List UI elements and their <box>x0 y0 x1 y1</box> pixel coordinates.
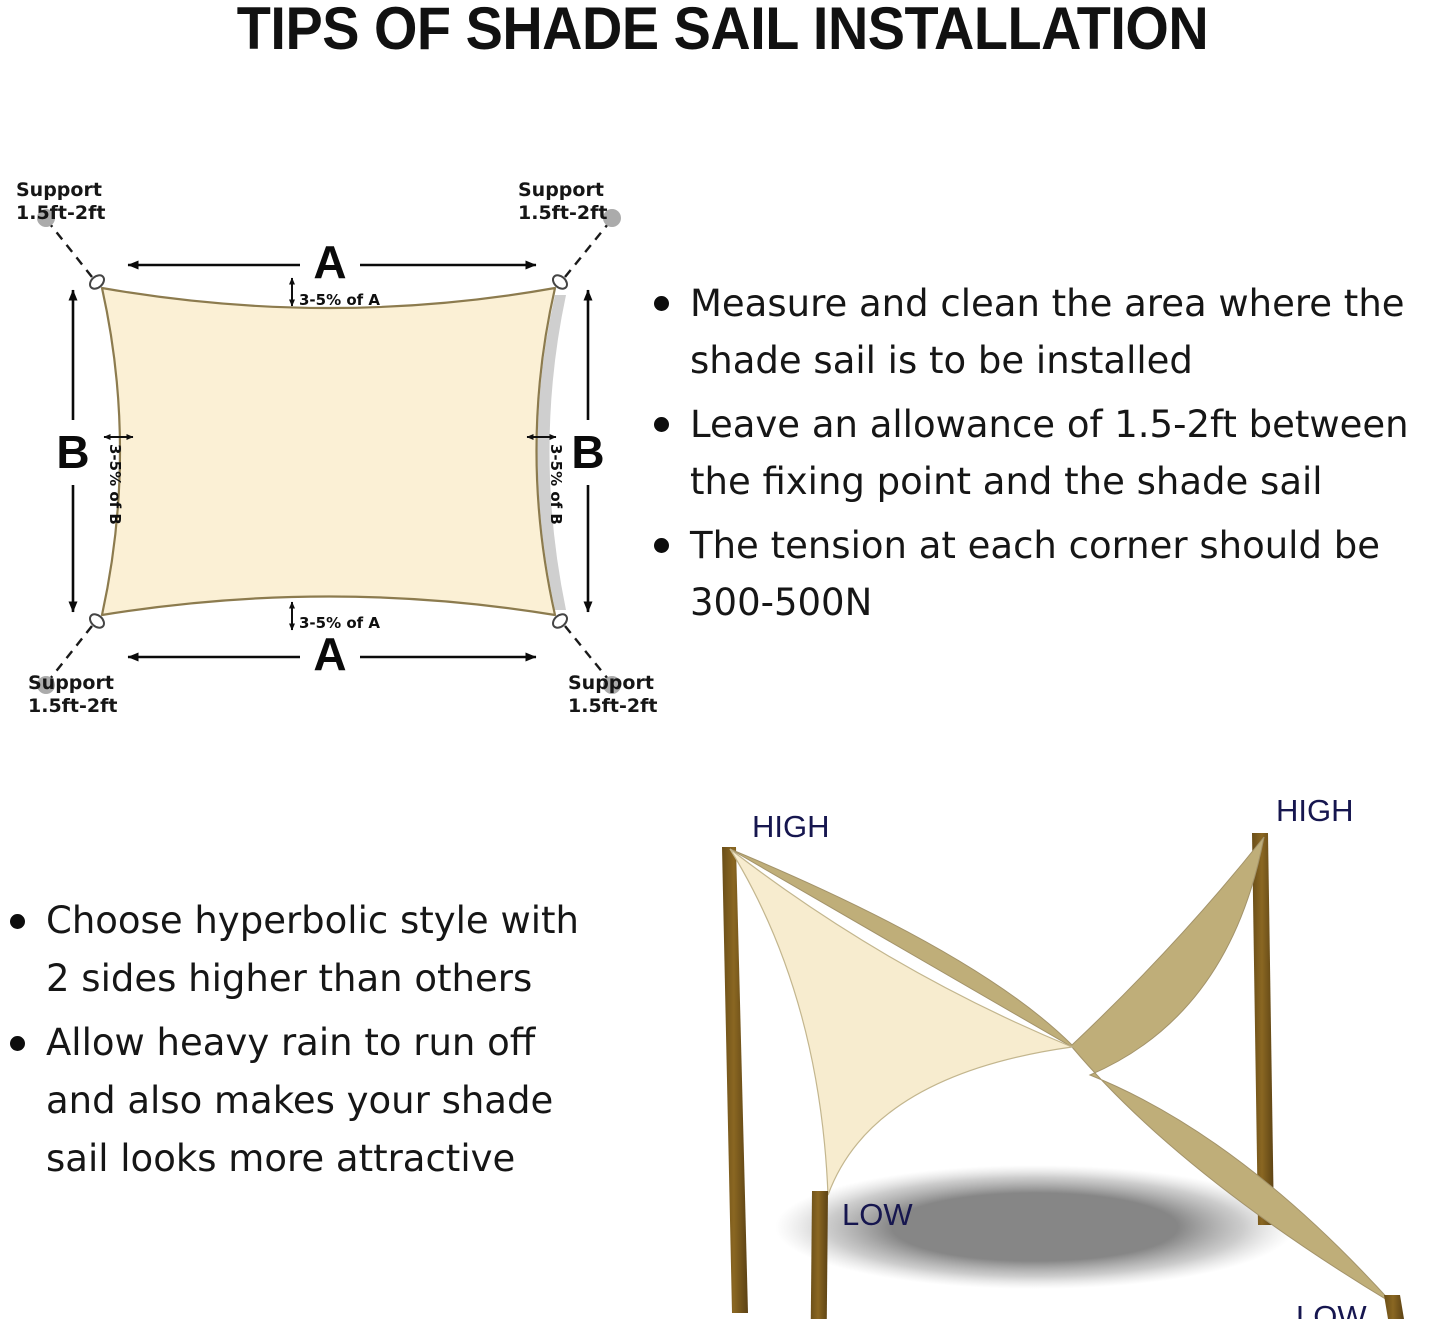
tip-line: Leave an allowance of 1.5-2ft between <box>690 403 1409 446</box>
tip-line: Allow heavy rain to run off <box>46 1021 535 1064</box>
support-label-top-right: Support 1.5ft-2ft <box>518 179 607 224</box>
support-label-line1: Support <box>518 179 604 201</box>
shade-sail-shape <box>102 288 555 615</box>
sail-panel-light <box>730 849 1072 1195</box>
tip-line: the fixing point and the shade sail <box>690 460 1323 503</box>
support-label-line2: 1.5ft-2ft <box>16 202 105 224</box>
dimension-top-width: A <box>128 236 536 288</box>
support-label-line2: 1.5ft-2ft <box>518 202 607 224</box>
tip-line: Measure and clean the area where the <box>690 282 1405 325</box>
installation-tips-list: Measure and clean the area where the sha… <box>648 275 1445 638</box>
support-label-line1: Support <box>28 672 114 694</box>
support-label-line1: Support <box>16 179 102 201</box>
support-label-line2: 1.5ft-2ft <box>568 695 657 717</box>
list-item: Leave an allowance of 1.5-2ft between th… <box>648 396 1445 510</box>
dimension-label: B <box>571 426 604 478</box>
pole-front-low-right <box>1384 1295 1404 1319</box>
list-item: Choose hyperbolic style with 2 sides hig… <box>4 892 624 1008</box>
pole-back-left <box>722 847 748 1313</box>
curvature-label: 3-5% of A <box>299 614 380 632</box>
curvature-bottom: 3-5% of A <box>292 602 380 632</box>
support-label-line1: Support <box>568 672 654 694</box>
tip-line: sail looks more attractive <box>46 1137 515 1180</box>
dimension-bottom-width: A <box>128 628 536 680</box>
dimension-label: B <box>56 426 89 478</box>
dimension-label: A <box>313 236 346 288</box>
page-title: TIPS OF SHADE SAIL INSTALLATION <box>51 0 1395 63</box>
pole-back-right <box>1252 833 1274 1225</box>
support-label-top-left: Support 1.5ft-2ft <box>16 179 105 224</box>
dimension-label: A <box>313 628 346 680</box>
list-item: Measure and clean the area where the sha… <box>648 275 1445 389</box>
list-item: Allow heavy rain to run off and also mak… <box>4 1014 624 1188</box>
corner-label-high-left: HIGH <box>752 809 830 844</box>
infographic-page: TIPS OF SHADE SAIL INSTALLATION Measure … <box>0 0 1445 1319</box>
tip-line: Choose hyperbolic style with <box>46 899 579 942</box>
hyperbolic-tips-list: Choose hyperbolic style with 2 sides hig… <box>4 892 624 1194</box>
corner-label-low-right: LOW <box>1296 1299 1367 1319</box>
support-label-bottom-right: Support 1.5ft-2ft <box>568 672 657 717</box>
corner-label-high-right: HIGH <box>1276 793 1354 828</box>
curvature-label: 3-5% of B <box>106 444 124 525</box>
support-label-bottom-left: Support 1.5ft-2ft <box>28 672 117 717</box>
tip-line: The tension at each corner should be <box>690 524 1380 567</box>
list-item: The tension at each corner should be 300… <box>648 517 1445 631</box>
tip-line: shade sail is to be installed <box>690 339 1193 382</box>
dimension-right-height: B <box>571 290 604 612</box>
hyperbolic-shade-sail-illustration: HIGH HIGH LOW LOW <box>620 775 1445 1319</box>
corner-label-low-front: LOW <box>842 1197 913 1232</box>
tip-line: 300-500N <box>690 581 872 624</box>
support-label-line2: 1.5ft-2ft <box>28 695 117 717</box>
pole-front-low-left <box>810 1191 828 1319</box>
dimension-left-height: B <box>56 290 89 612</box>
curvature-label: 3-5% of B <box>547 444 565 525</box>
rectangle-shade-sail-dimension-diagram: Support 1.5ft-2ft Support 1.5ft-2ft Supp… <box>0 160 660 730</box>
curvature-label: 3-5% of A <box>299 291 380 309</box>
tip-line: 2 sides higher than others <box>46 957 532 1000</box>
tip-line: and also makes your shade <box>46 1079 553 1122</box>
